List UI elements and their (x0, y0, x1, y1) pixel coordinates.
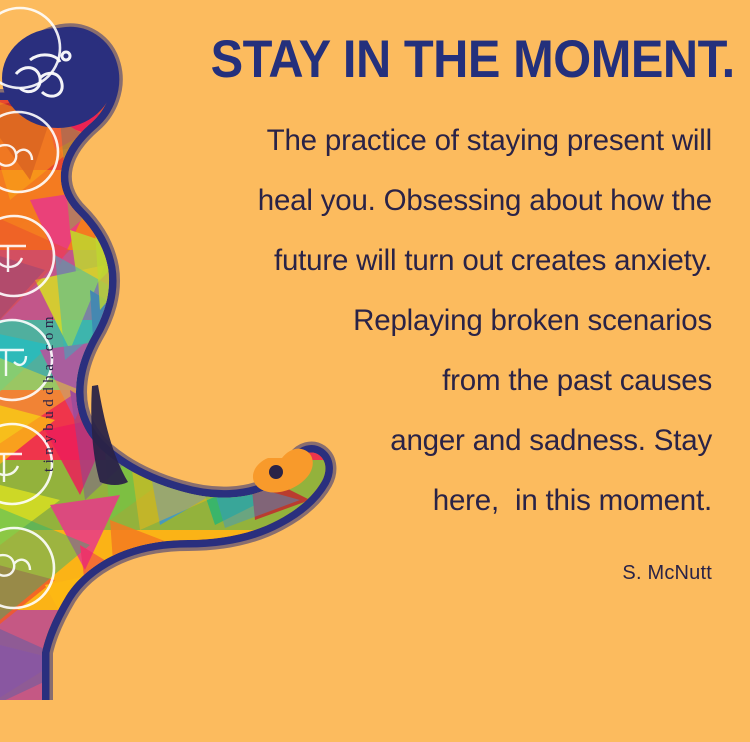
quote-attribution: S. McNutt (167, 562, 712, 585)
page-title: STAY IN THE MOMENT. (211, 33, 712, 86)
quote-line: Replaying broken scenarios (167, 291, 712, 351)
quote-poster: tinybuddha.com STAY IN THE MOMENT. The p… (0, 0, 750, 742)
quote-line: anger and sadness. Stay (167, 411, 712, 471)
quote-body: The practice of staying present will hea… (167, 111, 712, 531)
quote-line: future will turn out creates anxiety. (167, 231, 712, 291)
text-column: STAY IN THE MOMENT. The practice of stay… (167, 33, 712, 585)
quote-line: heal you. Obsessing about how the (167, 171, 712, 231)
quote-line: from the past causes (167, 351, 712, 411)
quote-line: The practice of staying present will (167, 111, 712, 171)
quote-line: here, in this moment. (167, 471, 712, 531)
